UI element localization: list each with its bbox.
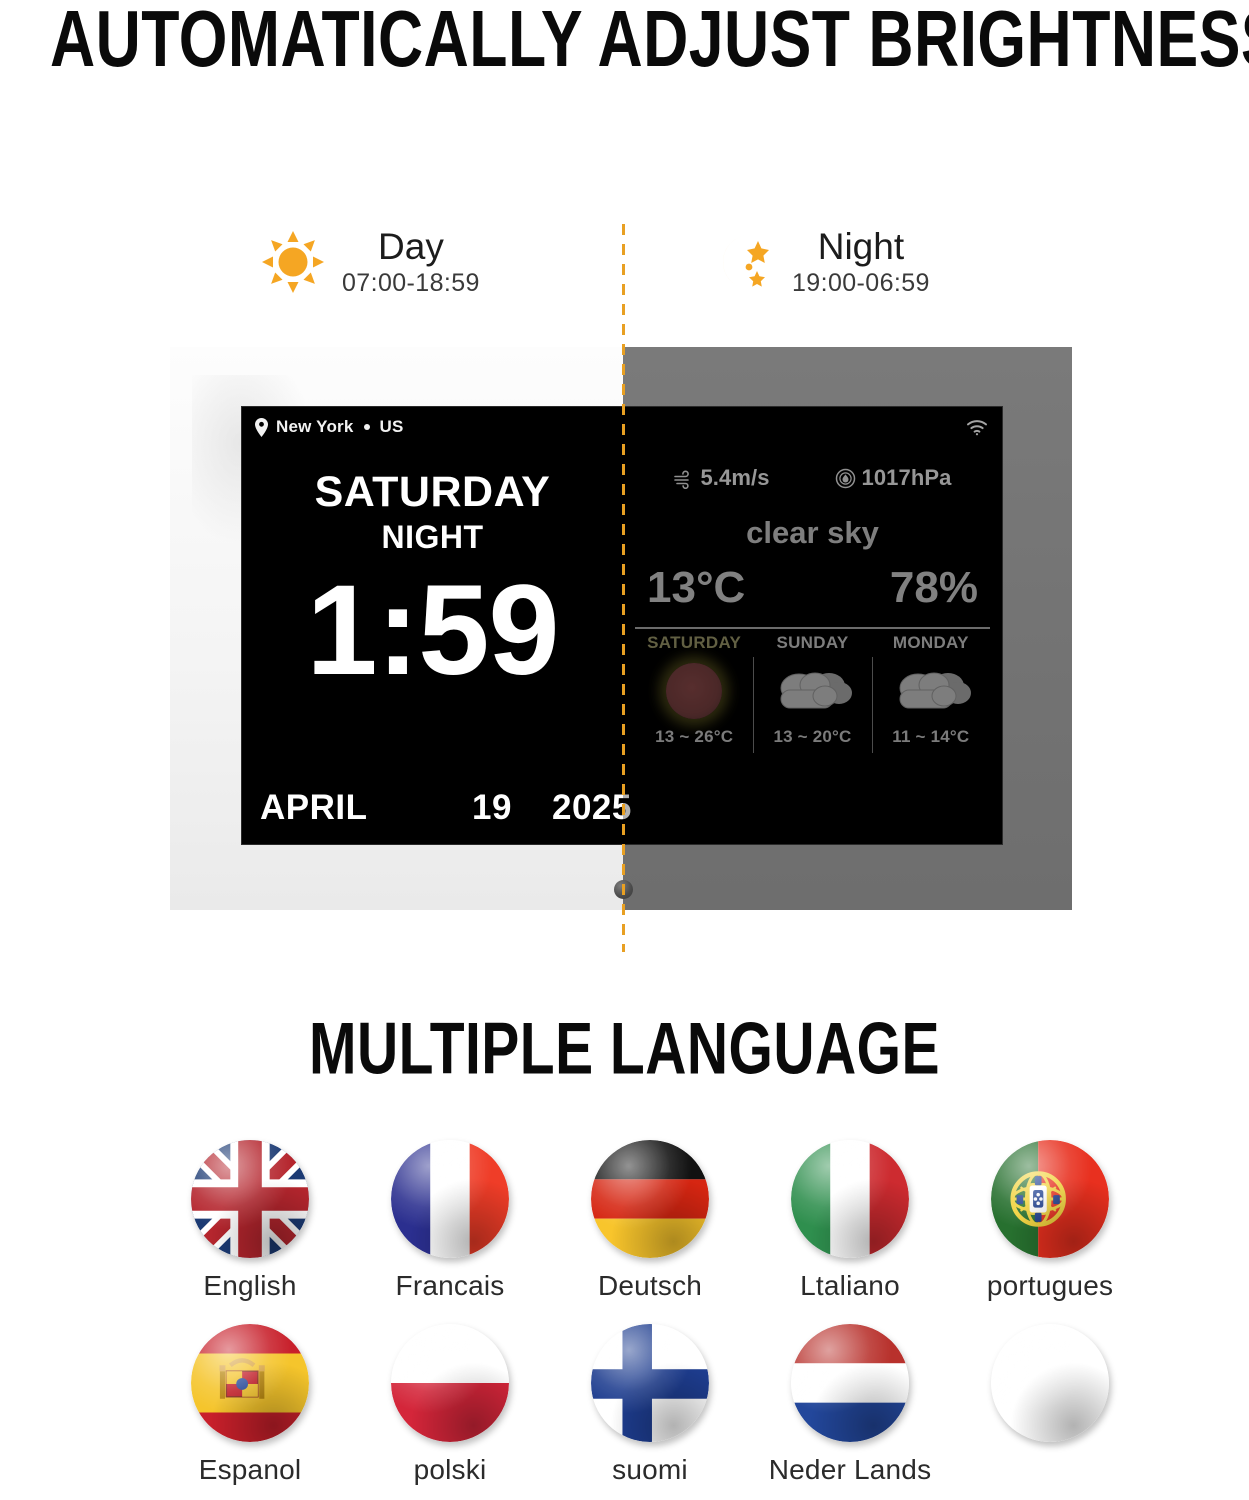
language-label: English	[203, 1270, 296, 1302]
pressure-value: 1017hPa	[862, 465, 952, 491]
legend-night-range: 19:00-06:59	[792, 268, 930, 298]
status-separator-dot	[364, 424, 370, 430]
page-title-brightness: AUTOMATICALLY ADJUST BRIGHTNESS	[50, 0, 1199, 83]
language-item-deutsch[interactable]: Deutsch	[550, 1140, 750, 1302]
temperature-value: 13°C	[647, 563, 745, 613]
forecast-day-label: SUNDAY	[776, 633, 848, 653]
flag-france-icon[interactable]	[391, 1140, 509, 1258]
status-city: New York	[276, 417, 354, 437]
clock-month: APRIL	[260, 788, 368, 828]
clock-year: 2025	[552, 788, 632, 828]
weather-panel: 5.4m/s 1017hPa clear sky 13°C 78	[623, 447, 1002, 844]
wind-value: 5.4m/s	[700, 465, 769, 491]
flag-italy-icon[interactable]	[791, 1140, 909, 1258]
wind-icon	[673, 468, 694, 489]
forecast-item: MONDAY	[872, 629, 990, 747]
legend-day: Day 07:00-18:59	[262, 226, 480, 298]
clock-device: New York US SATURDAY NIGHT 1:59 APRIL	[170, 347, 1072, 910]
page-title-language: MULTIPLE LANGUAGE	[50, 1010, 1199, 1090]
flag-united-kingdom-icon[interactable]	[191, 1140, 309, 1258]
legend-day-range: 07:00-18:59	[342, 268, 480, 298]
clock-panel: SATURDAY NIGHT 1:59 APRIL 19 2025	[242, 447, 623, 844]
clock-weekday: SATURDAY	[242, 469, 623, 515]
forecast-item: SATURDAY 13 ~ 26°C	[635, 629, 753, 747]
flag-germany-icon[interactable]	[591, 1140, 709, 1258]
language-label: polski	[414, 1454, 487, 1486]
language-item-espanol[interactable]: Espanol	[150, 1324, 350, 1486]
location-pin-icon	[254, 418, 269, 437]
forecast-temp-range: 13 ~ 26°C	[655, 727, 733, 747]
legend-night-title: Night	[818, 226, 904, 268]
flag-blank-icon[interactable]	[991, 1324, 1109, 1442]
pressure-gauge-icon	[835, 468, 856, 489]
clock-date: APRIL 19 2025	[260, 788, 623, 828]
flag-netherlands-icon[interactable]	[791, 1324, 909, 1442]
language-item-italiano[interactable]: Ltaliano	[750, 1140, 950, 1302]
language-label: suomi	[612, 1454, 688, 1486]
flag-portugal-icon[interactable]	[991, 1140, 1109, 1258]
language-item-english[interactable]: English	[150, 1140, 350, 1302]
weather-metrics: 5.4m/s 1017hPa	[623, 465, 1002, 491]
cloud-icon	[888, 657, 974, 725]
language-item-portugues[interactable]: portugues	[950, 1140, 1150, 1302]
flag-poland-icon[interactable]	[391, 1324, 509, 1442]
language-label: Deutsch	[598, 1270, 702, 1302]
forecast-item: SUNDAY	[753, 629, 871, 747]
language-grid: English Francais	[150, 1140, 1150, 1486]
forecast-temp-range: 13 ~ 20°C	[773, 727, 851, 747]
language-item-polski[interactable]: polski	[350, 1324, 550, 1486]
cloud-icon	[769, 657, 855, 725]
clock-period: NIGHT	[242, 519, 623, 555]
day-night-divider	[622, 224, 625, 952]
sun-icon	[262, 231, 324, 293]
clock-time: 1:59	[242, 563, 623, 698]
status-country: US	[380, 417, 404, 437]
forecast-row: SATURDAY 13 ~ 26°C SUNDAY	[635, 627, 990, 747]
pressure-metric: 1017hPa	[835, 465, 952, 491]
weather-description: clear sky	[623, 515, 1002, 551]
language-label: Francais	[396, 1270, 505, 1302]
sun-icon	[651, 657, 737, 725]
forecast-day-label: SATURDAY	[647, 633, 741, 653]
forecast-day-label: MONDAY	[893, 633, 969, 653]
clock-day: 19	[472, 788, 512, 828]
flag-finland-icon[interactable]	[591, 1324, 709, 1442]
language-label: portugues	[987, 1270, 1113, 1302]
language-item-nederlands[interactable]: Neder Lands	[750, 1324, 950, 1486]
language-item-blank[interactable]	[950, 1324, 1150, 1486]
language-label: Neder Lands	[769, 1454, 932, 1486]
language-label: Ltaliano	[800, 1270, 900, 1302]
language-label: Espanol	[199, 1454, 302, 1486]
moon-icon	[712, 231, 774, 293]
legend-night: Night 19:00-06:59	[712, 226, 930, 298]
weather-readings: 13°C 78%	[623, 563, 1002, 613]
language-item-francais[interactable]: Francais	[350, 1140, 550, 1302]
language-item-suomi[interactable]: suomi	[550, 1324, 750, 1486]
flag-spain-icon[interactable]	[191, 1324, 309, 1442]
legend-day-title: Day	[378, 226, 444, 268]
humidity-value: 78%	[890, 563, 978, 613]
forecast-temp-range: 11 ~ 14°C	[892, 727, 969, 747]
wifi-icon	[966, 418, 988, 436]
wind-metric: 5.4m/s	[673, 465, 769, 491]
